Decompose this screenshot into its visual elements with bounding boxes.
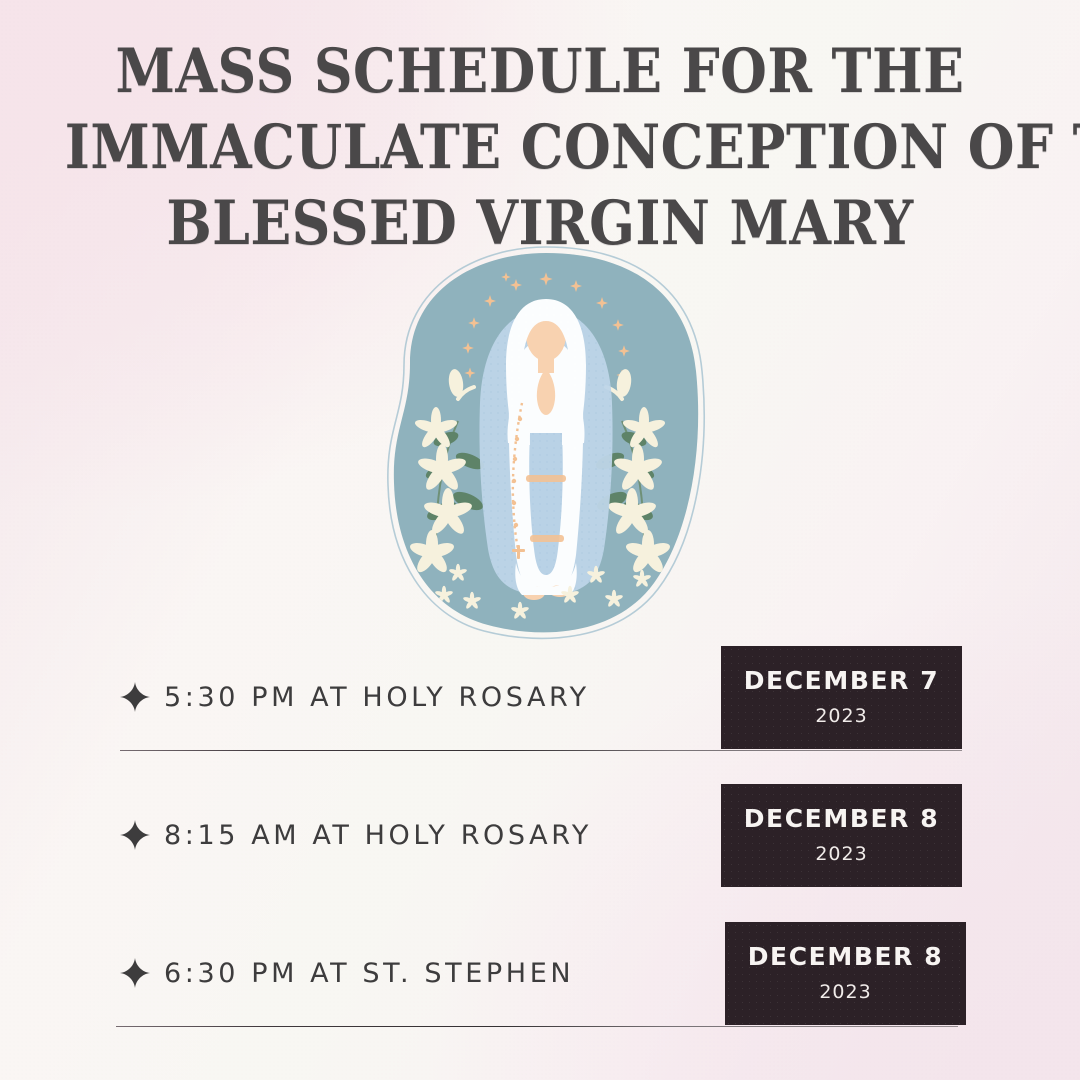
title-line-3: BLESSED VIRGIN MARY [65,186,1015,262]
schedule-time-text: 6:30 PM AT ST. STEPHEN [164,958,574,989]
virgin-mary-illustration [370,243,710,643]
date-badge: DECEMBER 8 2023 [721,784,962,887]
badge-month-day: DECEMBER 8 [748,942,944,972]
schedule-list: 5:30 PM AT HOLY ROSARY DECEMBER 7 2023 [0,628,1080,1042]
title-line-1: MASS SCHEDULE FOR THE [65,34,1015,110]
schedule-row: 5:30 PM AT HOLY ROSARY DECEMBER 7 2023 [0,628,1080,766]
schedule-row: 6:30 PM AT ST. STEPHEN DECEMBER 8 2023 [0,904,1080,1042]
badge-year: 2023 [819,979,871,1005]
four-point-star-icon [120,682,150,712]
mary-figure [479,299,612,600]
badge-year: 2023 [815,841,867,867]
badge-month-day: DECEMBER 7 [744,666,940,696]
date-badge: DECEMBER 8 2023 [725,922,966,1025]
schedule-row: 8:15 AM AT HOLY ROSARY DECEMBER 8 2023 [0,766,1080,904]
four-point-star-icon [120,958,150,988]
schedule-entry-label: 6:30 PM AT ST. STEPHEN [120,958,574,989]
mary-sash [526,475,566,482]
schedule-time-text: 8:15 AM AT HOLY ROSARY [164,820,592,851]
schedule-time-text: 5:30 PM AT HOLY ROSARY [164,682,590,713]
badge-year: 2023 [815,703,867,729]
title-line-2: IMMACULATE CONCEPTION OF THE [65,110,1015,186]
schedule-entry-label: 5:30 PM AT HOLY ROSARY [120,682,590,713]
four-point-star-icon [120,820,150,850]
mass-schedule-poster: MASS SCHEDULE FOR THE IMMACULATE CONCEPT… [0,0,1080,1080]
page-title: MASS SCHEDULE FOR THE IMMACULATE CONCEPT… [0,34,1080,262]
row-divider [120,750,962,751]
date-badge: DECEMBER 7 2023 [721,646,962,749]
badge-month-day: DECEMBER 8 [744,804,940,834]
schedule-entry-label: 8:15 AM AT HOLY ROSARY [120,820,592,851]
